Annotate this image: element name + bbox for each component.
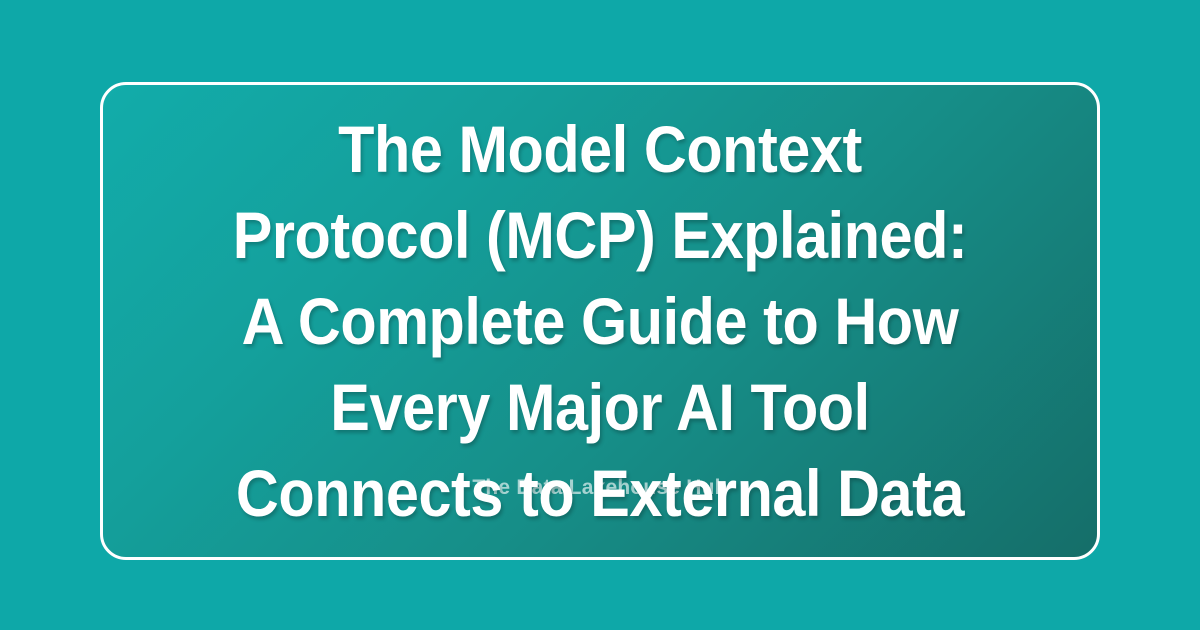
title-line-5: Connects to External Data [186, 450, 1014, 536]
page-title: The Model Context Protocol (MCP) Explain… [130, 106, 1070, 536]
og-image-canvas: The Data Lakehouse Hub The Model Context… [0, 0, 1200, 630]
title-line-3: A Complete Guide to How [186, 278, 1014, 364]
title-line-4: Every Major AI Tool [186, 364, 1014, 450]
title-line-2: Protocol (MCP) Explained: [186, 192, 1014, 278]
hero-card: The Data Lakehouse Hub The Model Context… [100, 82, 1100, 560]
title-line-1: The Model Context [186, 106, 1014, 192]
